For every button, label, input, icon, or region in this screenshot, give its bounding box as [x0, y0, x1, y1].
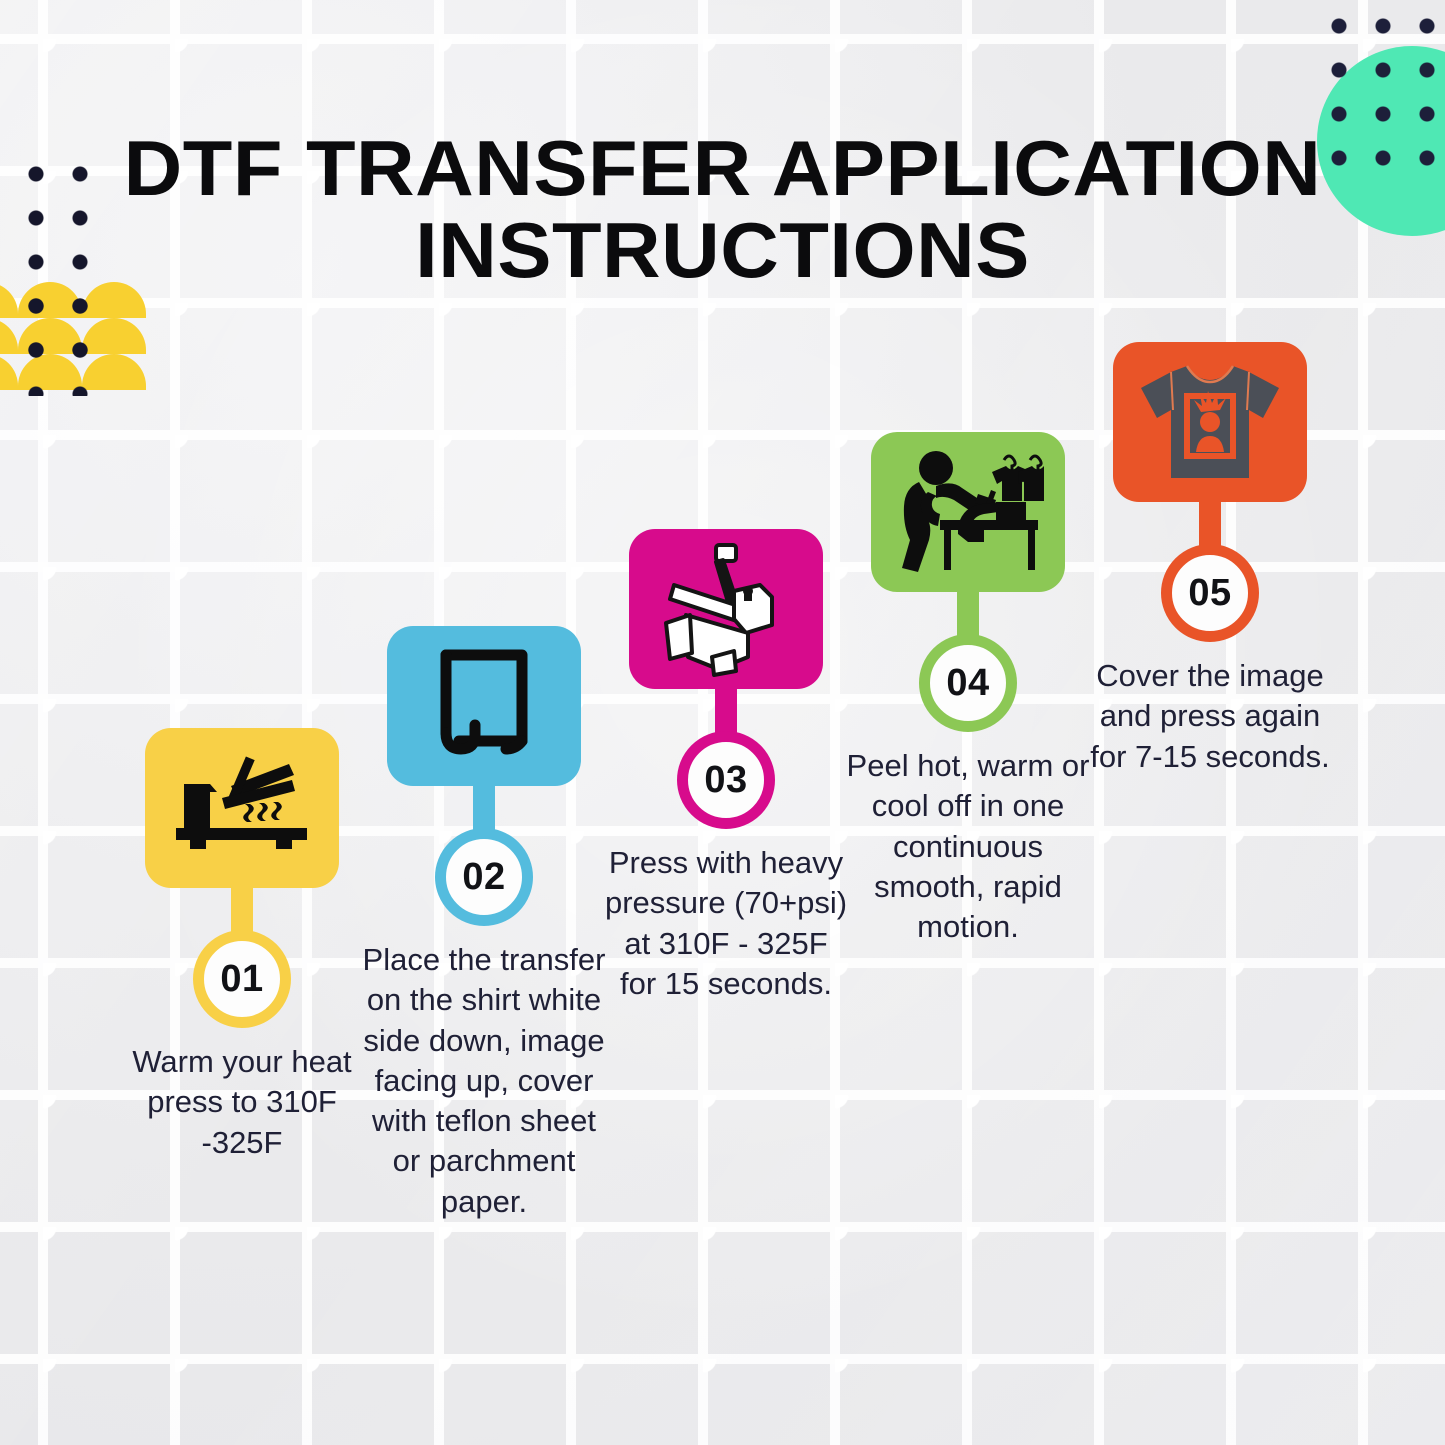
- printed-tshirt-icon: [1135, 360, 1285, 484]
- transfer-sheet-icon: [429, 647, 539, 765]
- infographic-canvas: DTF TRANSFER APPLICATION INSTRUCTIONS: [0, 0, 1445, 1445]
- step-04-number: 04: [946, 662, 989, 705]
- worker-peeling-transfer-icon: [892, 446, 1044, 578]
- step-02-pin: 02: [432, 782, 536, 928]
- step-item-05[interactable]: 05 Cover the image and press again for 7…: [1086, 342, 1334, 777]
- heat-press-open-icon: [176, 756, 308, 860]
- step-01-number: 01: [220, 958, 263, 1001]
- step-01-pin: 01: [190, 884, 294, 1030]
- step-01-number-ring: 01: [193, 930, 291, 1028]
- step-05-number-ring: 05: [1161, 544, 1259, 642]
- step-02-number-ring: 02: [435, 828, 533, 926]
- step-02-icon-card[interactable]: [387, 626, 581, 786]
- step-05-pin: 05: [1158, 498, 1262, 644]
- step-02-number: 02: [462, 856, 505, 899]
- step-item-01[interactable]: 01 Warm your heat press to 310F -325F: [118, 728, 366, 1163]
- step-03-pin: 03: [674, 685, 778, 831]
- step-04-caption: Peel hot, warm or cool off in one contin…: [844, 746, 1092, 947]
- step-03-caption: Press with heavy pressure (70+psi) at 31…: [602, 843, 850, 1004]
- step-03-number: 03: [704, 759, 747, 802]
- step-05-number: 05: [1188, 572, 1231, 615]
- step-item-02[interactable]: 02 Place the transfer on the shirt white…: [360, 626, 608, 1222]
- step-03-icon-card[interactable]: [629, 529, 823, 689]
- step-04-icon-card[interactable]: [871, 432, 1065, 592]
- step-04-pin: 04: [916, 588, 1020, 734]
- steps-container: 01 Warm your heat press to 310F -325F: [0, 0, 1445, 1445]
- step-01-icon-card[interactable]: [145, 728, 339, 888]
- step-03-number-ring: 03: [677, 731, 775, 829]
- step-item-04[interactable]: 04 Peel hot, warm or cool off in one con…: [844, 432, 1092, 947]
- heat-press-machine-icon: [656, 541, 796, 677]
- step-02-caption: Place the transfer on the shirt white si…: [360, 940, 608, 1222]
- step-01-caption: Warm your heat press to 310F -325F: [118, 1042, 366, 1163]
- step-04-number-ring: 04: [919, 634, 1017, 732]
- step-05-caption: Cover the image and press again for 7-15…: [1086, 656, 1334, 777]
- step-05-icon-card[interactable]: [1113, 342, 1307, 502]
- step-item-03[interactable]: 03 Press with heavy pressure (70+psi) at…: [602, 529, 850, 1004]
